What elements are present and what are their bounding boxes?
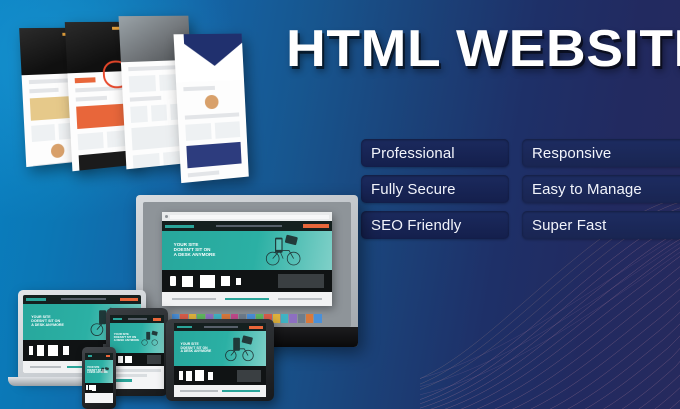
site-logo	[26, 298, 46, 301]
mockup-strip	[185, 112, 239, 119]
tablet-icon	[186, 371, 192, 381]
site-hero-text: YOUR SITE DOESN'T SIT ON A DESK ANYMORE	[85, 367, 108, 374]
website-page-previews	[22, 18, 252, 178]
mockup-page-navy-chevron	[174, 34, 249, 184]
footer-link[interactable]	[222, 390, 260, 392]
hero-illustration-icon	[216, 333, 264, 364]
phone-icon	[170, 276, 176, 286]
site-footer	[174, 385, 266, 397]
site-hero: YOUR SITE DOESN'T SIT ON A DESK ANYMORE	[174, 331, 266, 366]
mockup-strip	[75, 77, 96, 83]
laptop-icon	[48, 345, 58, 357]
site-hero: YOUR SITE DOESN'T SIT ON A DESK ANYMORE	[162, 231, 333, 271]
browser-chrome	[162, 212, 333, 221]
laptop-icon	[92, 385, 96, 391]
site-menu	[61, 298, 106, 300]
site-hero: YOUR SITE DOESN'T SIT ON A DESK ANYMORE	[85, 360, 113, 383]
site-hero-text: YOUR SITE DOESN'T SIT ON A DESK ANYMORE	[174, 343, 211, 354]
responsive-device-mockup: YOUR SITE DOESN'T SIT ON A DESK ANYMORE	[18, 195, 338, 409]
mockup-strip	[29, 88, 58, 93]
mockup-row	[185, 121, 240, 141]
page-title: HTML WEBSITE	[286, 23, 680, 75]
feature-row: Professional Responsive	[361, 139, 680, 167]
site-preview: YOUR SITE DOESN'T SIT ON A DESK ANYMORE	[110, 315, 164, 389]
phone-icon	[179, 371, 183, 380]
tablet-small-icon	[63, 346, 69, 355]
footer-link[interactable]	[278, 298, 322, 300]
site-nav	[174, 323, 266, 331]
feature-badge-professional[interactable]: Professional	[361, 139, 509, 167]
site-menu-button[interactable]	[106, 355, 110, 357]
mockup-header	[174, 34, 244, 82]
footer-link[interactable]	[172, 298, 216, 300]
site-preview: YOUR SITE DOESN'T SIT ON A DESK ANYMORE	[162, 221, 333, 305]
footer-link[interactable]	[30, 366, 60, 368]
watch-icon	[236, 278, 241, 285]
mockup-block	[186, 142, 241, 168]
site-device-icons	[85, 383, 113, 393]
tablet-small-icon	[221, 276, 230, 286]
feature-row: SEO Friendly Super Fast	[361, 211, 680, 239]
tablet-icon	[182, 276, 193, 287]
site-cta-button[interactable]	[303, 224, 329, 228]
tablet-landscape-screen: YOUR SITE DOESN'T SIT ON A DESK ANYMORE	[174, 323, 266, 397]
site-nav	[23, 295, 141, 304]
tablet-icon	[118, 356, 123, 363]
phone-screen: YOUR SITE DOESN'T SIT ON A DESK ANYMORE	[85, 353, 113, 403]
site-content-block	[110, 366, 164, 389]
site-hero-text: YOUR SITE DOESN'T SIT ON A DESK ANYMORE	[23, 316, 64, 328]
feature-badge-list: Professional Responsive Fully Secure Eas…	[361, 139, 680, 247]
site-device-icons	[162, 270, 333, 292]
laptop-icon	[200, 275, 215, 288]
site-hero-text: YOUR SITE DOESN'T SIT ON A DESK ANYMORE	[162, 243, 216, 258]
monitor-screen: YOUR SITE DOESN'T SIT ON A DESK ANYMORE	[143, 202, 351, 327]
site-menu	[216, 225, 282, 227]
site-nav	[162, 221, 333, 230]
laptop-icon	[125, 356, 132, 364]
site-hero: YOUR SITE DOESN'T SIT ON A DESK ANYMORE	[110, 323, 164, 353]
footer-link[interactable]	[180, 390, 218, 392]
site-logo	[113, 318, 122, 321]
browser-window: YOUR SITE DOESN'T SIT ON A DESK ANYMORE	[162, 212, 333, 306]
feature-badge-easy-to-manage[interactable]: Easy to Manage	[522, 175, 680, 203]
site-icons-caption	[278, 274, 324, 288]
laptop-icon	[195, 370, 204, 381]
tablet-portrait-screen: YOUR SITE DOESN'T SIT ON A DESK ANYMORE	[110, 315, 164, 389]
site-logo	[165, 225, 195, 228]
site-hero-text: YOUR SITE DOESN'T SIT ON A DESK ANYMORE	[110, 333, 139, 342]
browser-address-bar[interactable]	[170, 215, 330, 219]
device-tablet-landscape: YOUR SITE DOESN'T SIT ON A DESK ANYMORE	[166, 319, 274, 401]
device-phone: YOUR SITE DOESN'T SIT ON A DESK ANYMORE	[82, 347, 116, 409]
mockup-avatar	[205, 94, 219, 109]
mockup-avatar	[51, 143, 65, 158]
tablet-icon	[37, 345, 44, 356]
site-cta-button[interactable]	[153, 318, 161, 321]
banner-image: HTML WEBSITE Professional Responsive Ful…	[0, 0, 680, 409]
site-device-icons	[110, 353, 164, 366]
site-logo	[177, 326, 192, 329]
site-icons-caption	[147, 355, 162, 363]
feature-badge-super-fast[interactable]: Super Fast	[522, 211, 680, 239]
site-logo	[88, 355, 92, 357]
site-device-icons	[174, 366, 266, 385]
feature-row: Fully Secure Easy to Manage	[361, 175, 680, 203]
footer-link[interactable]	[225, 298, 269, 300]
mockup-strip	[76, 95, 107, 101]
mockup-strip	[188, 170, 219, 177]
site-preview: YOUR SITE DOESN'T SIT ON A DESK ANYMORE	[174, 323, 266, 397]
site-footer	[162, 292, 333, 306]
site-icons-caption	[237, 370, 262, 382]
feature-badge-fully-secure[interactable]: Fully Secure	[361, 175, 509, 203]
mockup-strip	[183, 86, 214, 91]
feature-badge-seo-friendly[interactable]: SEO Friendly	[361, 211, 509, 239]
site-nav	[110, 315, 164, 323]
site-cta-button[interactable]	[249, 326, 263, 329]
hero-illustration-icon	[240, 233, 329, 268]
tablet-small-icon	[208, 372, 213, 380]
site-cta-button[interactable]	[120, 298, 138, 301]
phone-icon	[29, 346, 33, 355]
site-menu	[204, 326, 238, 328]
site-menu	[128, 318, 147, 320]
mockup-strip	[130, 96, 162, 102]
site-preview: YOUR SITE DOESN'T SIT ON A DESK ANYMORE	[85, 353, 113, 403]
browser-dot-icon	[165, 215, 168, 218]
feature-badge-responsive[interactable]: Responsive	[522, 139, 680, 167]
